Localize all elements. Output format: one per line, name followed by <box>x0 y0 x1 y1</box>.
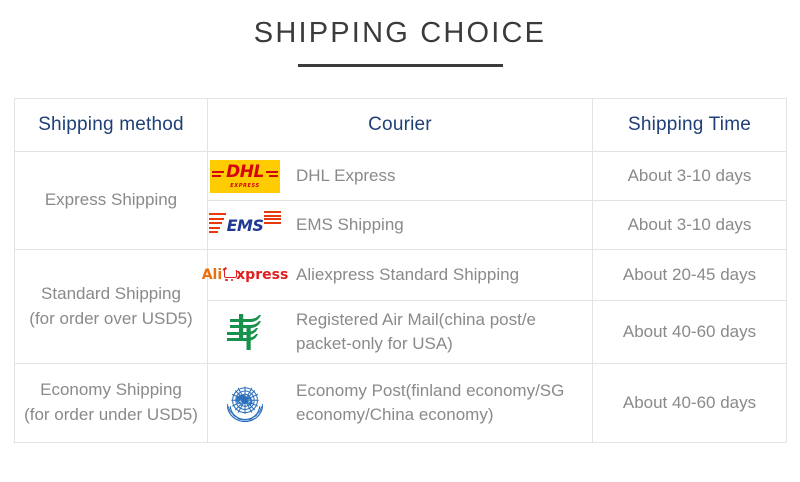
shipping-table: Shipping method Courier Shipping Time Ex… <box>14 98 787 443</box>
table-row: Express Shipping DHL EXPRESS <box>15 152 787 201</box>
table-row: Economy Shipping (for order under USD5) <box>15 364 787 443</box>
method-line-2: (for order under USD5) <box>15 403 207 428</box>
china-post-icon <box>224 312 266 352</box>
courier-label: Registered Air Mail(china post/e packet-… <box>296 308 592 356</box>
dhl-logo: DHL EXPRESS <box>208 155 282 197</box>
courier-cell-economy-post: Economy Post(finland economy/SG economy/… <box>208 364 593 443</box>
shipping-choice-page: SHIPPING CHOICE Shipping method Courier … <box>0 0 800 482</box>
method-line-2: (for order over USD5) <box>15 307 207 332</box>
united-nations-logo <box>208 382 282 424</box>
table-row: Standard Shipping (for order over USD5) … <box>15 250 787 301</box>
courier-cell-ems: EMS EMS Shipping <box>208 201 593 250</box>
ems-logo-text: EMS <box>227 218 264 234</box>
aliexpress-logo-text: Ali <box>202 268 222 282</box>
aliexpress-logo-subtext: xpress <box>236 268 288 282</box>
method-cell-standard: Standard Shipping (for order over USD5) <box>15 250 208 364</box>
time-cell: About 20-45 days <box>593 250 787 301</box>
method-line-1: Economy Shipping <box>15 378 207 403</box>
united-nations-icon <box>222 380 268 426</box>
courier-label: Aliexpress Standard Shipping <box>296 263 519 287</box>
dhl-logo-text: DHL <box>226 164 264 181</box>
shopping-cart-icon <box>223 269 236 281</box>
aliexpress-logo: Ali xpress <box>208 254 282 296</box>
courier-cell-dhl: DHL EXPRESS DHL Express <box>208 152 593 201</box>
dhl-logo-subtext: EXPRESS <box>230 184 259 189</box>
title-block: SHIPPING CHOICE <box>0 0 800 67</box>
method-cell-economy: Economy Shipping (for order under USD5) <box>15 364 208 443</box>
header-shipping-method: Shipping method <box>15 99 208 152</box>
title-underline <box>298 64 503 67</box>
time-cell: About 40-60 days <box>593 364 787 443</box>
courier-cell-aliexpress: Ali xpress Ali <box>208 250 593 301</box>
courier-label: Economy Post(finland economy/SG economy/… <box>296 379 592 427</box>
time-cell: About 40-60 days <box>593 301 787 364</box>
table-header-row: Shipping method Courier Shipping Time <box>15 99 787 152</box>
courier-label: DHL Express <box>296 164 396 188</box>
method-cell-express: Express Shipping <box>15 152 208 250</box>
courier-label: EMS Shipping <box>296 213 404 237</box>
method-line-1: Standard Shipping <box>15 282 207 307</box>
courier-cell-china-post: Registered Air Mail(china post/e packet-… <box>208 301 593 364</box>
time-cell: About 3-10 days <box>593 201 787 250</box>
time-cell: About 3-10 days <box>593 152 787 201</box>
page-title: SHIPPING CHOICE <box>0 18 800 50</box>
ems-logo: EMS <box>208 204 282 246</box>
header-shipping-time: Shipping Time <box>593 99 787 152</box>
header-courier: Courier <box>208 99 593 152</box>
shipping-table-wrapper: Shipping method Courier Shipping Time Ex… <box>14 98 786 443</box>
china-post-logo <box>208 311 282 353</box>
